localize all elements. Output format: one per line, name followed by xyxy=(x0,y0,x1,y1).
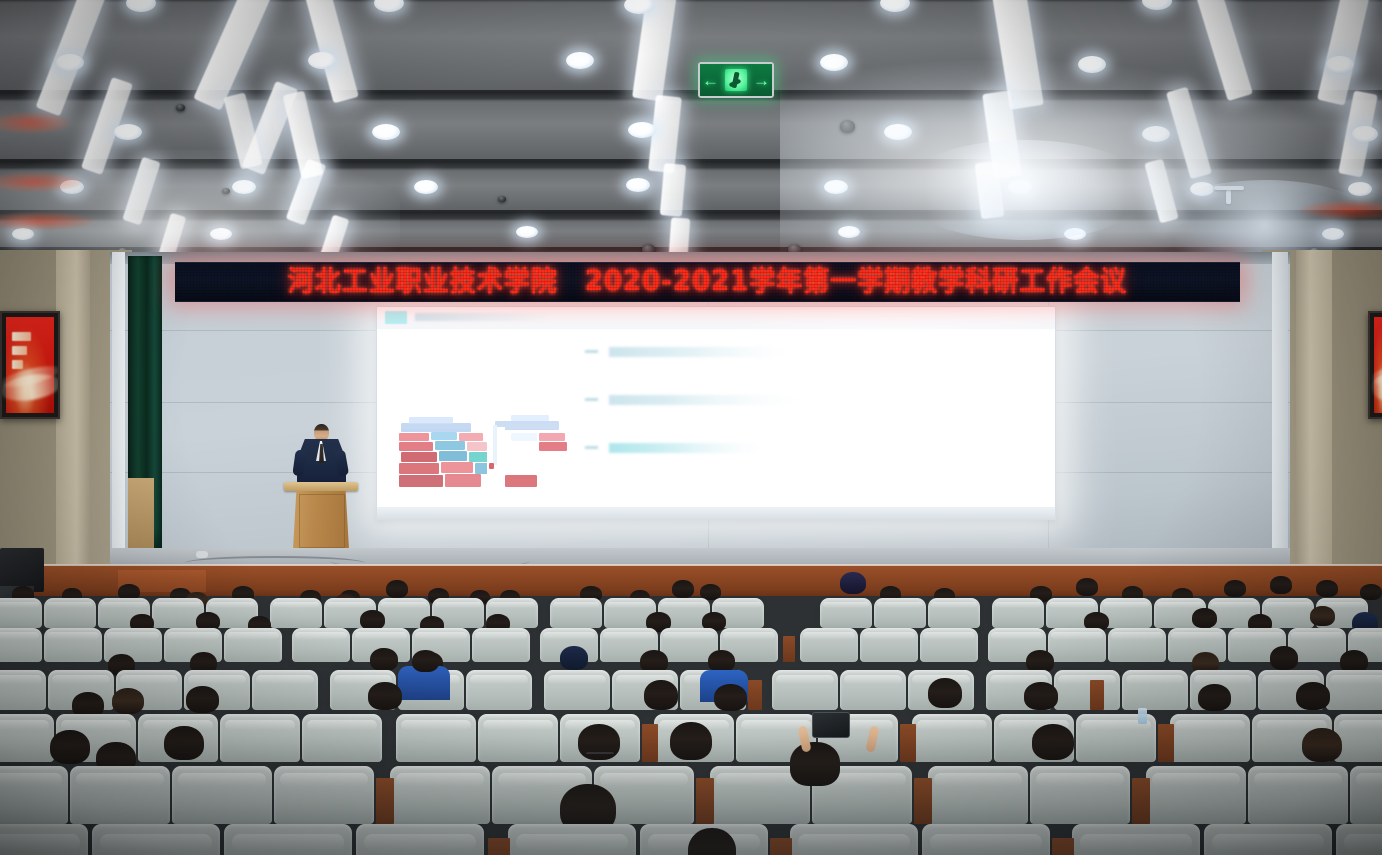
exit-left-arrow-icon: ← xyxy=(702,72,719,89)
seat[interactable] xyxy=(44,628,102,662)
ceiling-sensor-icon xyxy=(498,196,506,202)
seat[interactable] xyxy=(1326,670,1382,710)
seat[interactable] xyxy=(270,598,322,628)
ceiling-downlight xyxy=(838,226,860,238)
left-wall-poster xyxy=(0,311,60,419)
seat[interactable] xyxy=(252,670,318,710)
emergency-exit-sign: ← → xyxy=(698,62,774,98)
seat[interactable] xyxy=(1054,670,1120,710)
seat[interactable] xyxy=(550,598,602,628)
slide-photo-container-port xyxy=(399,377,567,489)
seat[interactable] xyxy=(220,714,300,762)
seat[interactable] xyxy=(1146,766,1246,824)
auditorium-photo: ← → xyxy=(0,0,1382,855)
ceiling-downlight xyxy=(628,122,656,138)
seat[interactable] xyxy=(800,628,858,662)
seat[interactable] xyxy=(0,824,88,855)
ceiling-downlight xyxy=(1190,182,1214,196)
ceiling-downlight xyxy=(56,54,84,71)
projection-screen xyxy=(376,306,1056,520)
ceiling-downlight xyxy=(1078,56,1106,73)
slide-bullet-text xyxy=(609,395,804,405)
right-wall-pillar xyxy=(1296,250,1332,580)
seat[interactable] xyxy=(0,598,42,628)
ceiling-downlight xyxy=(1008,180,1032,194)
ceiling xyxy=(0,0,1382,262)
seat[interactable] xyxy=(1350,766,1382,824)
seat[interactable] xyxy=(1336,824,1382,855)
seat[interactable] xyxy=(0,670,46,710)
seat[interactable] xyxy=(508,824,636,855)
presenter-head xyxy=(314,424,329,441)
slide-bullet-text xyxy=(609,347,784,357)
seat[interactable] xyxy=(0,628,42,662)
seat[interactable] xyxy=(0,714,54,762)
presenter xyxy=(292,424,350,486)
ceiling-downlight xyxy=(372,124,400,140)
seat[interactable] xyxy=(544,670,610,710)
slide-bullet-list xyxy=(585,347,885,491)
podium-body xyxy=(293,491,349,549)
ceiling-downlight xyxy=(516,226,538,238)
ceiling-downlight xyxy=(1142,126,1170,142)
seat[interactable] xyxy=(1108,628,1166,662)
seat[interactable] xyxy=(172,766,272,824)
seat[interactable] xyxy=(860,628,918,662)
seat[interactable] xyxy=(1072,824,1200,855)
seat[interactable] xyxy=(92,824,220,855)
seat[interactable] xyxy=(466,670,532,710)
ceiling-downlight xyxy=(60,180,84,194)
seat[interactable] xyxy=(928,766,1028,824)
seat[interactable] xyxy=(70,766,170,824)
ceiling-downlight xyxy=(884,124,912,140)
ceiling-downlight xyxy=(1352,126,1378,142)
list-item xyxy=(585,347,885,357)
seat[interactable] xyxy=(1030,766,1130,824)
seat[interactable] xyxy=(396,714,476,762)
ceiling-sensor-icon xyxy=(176,104,185,111)
presentation-slide xyxy=(377,307,1055,519)
ceiling-downlight xyxy=(1348,182,1372,196)
seat[interactable] xyxy=(1248,766,1348,824)
seat[interactable] xyxy=(820,598,872,628)
ceiling-downlight xyxy=(114,124,142,140)
seat[interactable] xyxy=(302,714,382,762)
ceiling-downlight xyxy=(824,180,848,194)
slide-title-text xyxy=(415,313,555,321)
mobile-phone xyxy=(812,712,850,738)
seat[interactable] xyxy=(920,628,978,662)
seat[interactable] xyxy=(928,598,980,628)
seat[interactable] xyxy=(390,766,490,824)
running-man-icon xyxy=(725,69,747,91)
ceiling-downlight xyxy=(210,228,232,240)
slide-header xyxy=(377,307,1055,329)
seat[interactable] xyxy=(912,714,992,762)
slide-bullet-text xyxy=(609,443,759,453)
audience-seating xyxy=(0,566,1382,855)
ceiling-downlight xyxy=(308,52,336,69)
seat[interactable] xyxy=(472,628,530,662)
ceiling-downlight xyxy=(820,54,848,71)
left-wall-pillar xyxy=(56,250,90,580)
proscenium-left-edge xyxy=(112,252,125,572)
exit-right-arrow-icon: → xyxy=(753,72,770,89)
seat[interactable] xyxy=(1122,670,1188,710)
seat[interactable] xyxy=(1334,714,1382,762)
seat[interactable] xyxy=(292,628,350,662)
ceiling-downlight xyxy=(1326,56,1354,73)
seat[interactable] xyxy=(790,824,918,855)
list-item xyxy=(585,443,885,453)
seat[interactable] xyxy=(922,824,1050,855)
seat[interactable] xyxy=(0,766,68,824)
ceiling-downlight xyxy=(232,180,256,194)
led-banner-text: 河北工业职业技术学院 2020-2021学年第一学期教学科研工作会议 xyxy=(288,268,1128,296)
right-wall-poster xyxy=(1368,311,1382,419)
slide-title-accent xyxy=(385,311,407,324)
seat[interactable] xyxy=(1204,824,1332,855)
ceiling-downlight xyxy=(1322,228,1344,240)
ceiling-downlight xyxy=(566,52,594,69)
podium-top xyxy=(284,482,358,491)
seat[interactable] xyxy=(356,824,484,855)
seat[interactable] xyxy=(840,670,906,710)
ceiling-downlight xyxy=(626,178,650,192)
seat[interactable] xyxy=(274,766,374,824)
seat[interactable] xyxy=(44,598,96,628)
seat[interactable] xyxy=(478,714,558,762)
proscenium-right-edge xyxy=(1272,252,1288,572)
ceiling-downlight xyxy=(12,228,34,240)
stage-cable-connector xyxy=(196,551,208,558)
ceiling-downlight xyxy=(1064,228,1086,240)
seat[interactable] xyxy=(224,824,352,855)
seat[interactable] xyxy=(1048,628,1106,662)
seat[interactable] xyxy=(772,670,838,710)
seat[interactable] xyxy=(992,598,1044,628)
seat[interactable] xyxy=(874,598,926,628)
list-item xyxy=(585,395,885,405)
ceiling-camera-icon xyxy=(840,120,855,133)
seat[interactable] xyxy=(224,628,282,662)
ceiling-sensor-icon xyxy=(222,188,230,194)
ceiling-downlight xyxy=(414,180,438,194)
stage-wood-panel xyxy=(128,478,154,556)
seat[interactable] xyxy=(1170,714,1250,762)
led-banner: 河北工业职业技术学院 2020-2021学年第一学期教学科研工作会议 xyxy=(175,262,1240,302)
